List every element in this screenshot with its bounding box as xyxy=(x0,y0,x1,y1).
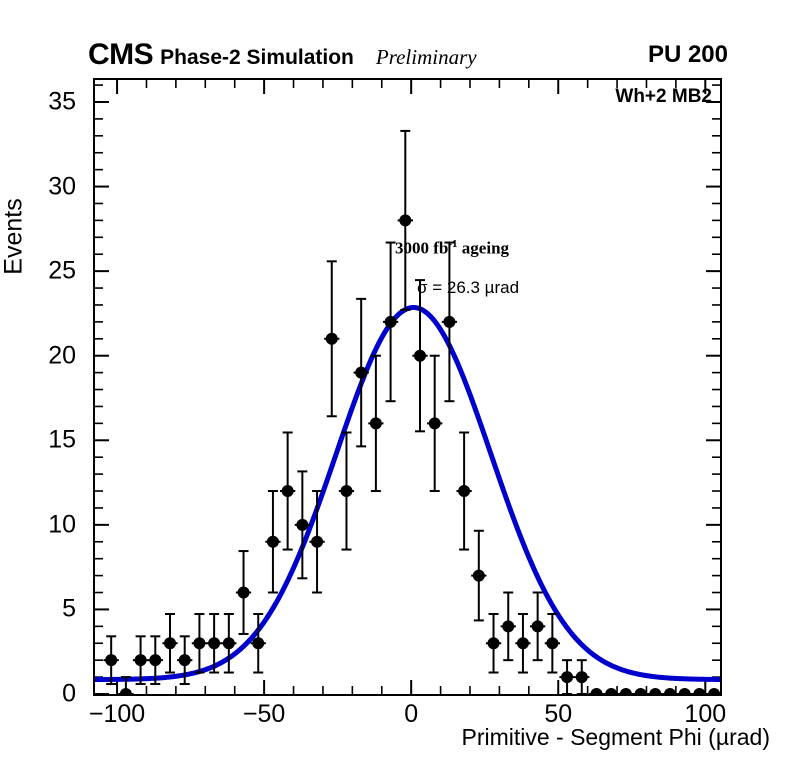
plot-frame: Wh+2 MB2 3000 fb-1 ageing σ = 26.3 µrad xyxy=(93,78,722,696)
data-point-marker xyxy=(605,688,617,694)
data-point-marker xyxy=(429,417,441,429)
data-point-marker xyxy=(193,637,205,649)
data-point-marker xyxy=(414,350,426,362)
data-point-marker xyxy=(120,688,132,694)
data-point-marker xyxy=(105,654,117,666)
data-point-marker xyxy=(223,637,235,649)
data-point-marker xyxy=(385,316,397,328)
y-tick-label: 5 xyxy=(62,595,76,624)
x-axis-title: Primitive - Segment Phi (µrad) xyxy=(110,724,782,751)
data-point-marker xyxy=(679,688,691,694)
data-point-marker xyxy=(708,688,720,694)
data-point-marker xyxy=(208,637,220,649)
data-point-marker xyxy=(399,214,411,226)
data-point-marker xyxy=(649,688,661,694)
data-point-marker xyxy=(443,316,455,328)
data-point-marker xyxy=(458,485,470,497)
cms-logo-text: CMS xyxy=(88,38,153,72)
data-point-marker xyxy=(664,688,676,694)
data-point-marker xyxy=(532,620,544,632)
plot-canvas: CMS Phase-2 Simulation Preliminary PU 20… xyxy=(0,0,796,772)
ageing-annotation: 3000 fb-1 ageing xyxy=(395,238,509,259)
y-tick-label: 35 xyxy=(48,87,76,116)
cms-status-label: Preliminary xyxy=(376,40,477,74)
data-point-marker xyxy=(488,637,500,649)
y-tick-label: 20 xyxy=(48,341,76,370)
ageing-pre: 3000 fb xyxy=(395,239,448,258)
data-point-marker xyxy=(179,654,191,666)
data-point-marker xyxy=(693,688,705,694)
gaussian-fit-curve xyxy=(95,308,720,680)
sigma-annotation: σ = 26.3 µrad xyxy=(417,278,519,298)
y-tick-label: 15 xyxy=(48,426,76,455)
data-point-marker xyxy=(590,688,602,694)
data-point-marker xyxy=(282,485,294,497)
data-point-marker xyxy=(296,519,308,531)
data-point-marker xyxy=(546,637,558,649)
data-points-group xyxy=(105,214,720,694)
cms-subtitle: Phase-2 Simulation xyxy=(160,41,354,75)
plot-area xyxy=(95,80,720,694)
error-bars-group xyxy=(104,131,720,694)
data-point-marker xyxy=(164,637,176,649)
data-point-marker xyxy=(252,637,264,649)
data-point-marker xyxy=(576,671,588,683)
plot-svg xyxy=(95,80,720,694)
pileup-label: PU 200 xyxy=(648,38,728,72)
cms-header: CMS Phase-2 Simulation Preliminary PU 20… xyxy=(88,38,728,72)
ageing-post: ageing xyxy=(458,239,509,258)
data-point-marker xyxy=(517,637,529,649)
ageing-exponent: -1 xyxy=(448,238,457,250)
data-point-marker xyxy=(620,688,632,694)
y-tick-label: 30 xyxy=(48,172,76,201)
y-tick-label: 25 xyxy=(48,257,76,286)
tick-marks-group xyxy=(95,80,720,694)
data-point-marker xyxy=(238,587,250,599)
cms-header-row: CMS Phase-2 Simulation Preliminary xyxy=(88,38,728,75)
y-tick-label: 10 xyxy=(48,510,76,539)
data-point-marker xyxy=(355,367,367,379)
data-point-marker xyxy=(502,620,514,632)
chamber-label: Wh+2 MB2 xyxy=(615,86,712,108)
data-point-marker xyxy=(135,654,147,666)
data-point-marker xyxy=(473,570,485,582)
data-point-marker xyxy=(561,671,573,683)
data-point-marker xyxy=(326,333,338,345)
data-point-marker xyxy=(311,536,323,548)
data-point-marker xyxy=(370,417,382,429)
data-point-marker xyxy=(340,485,352,497)
data-point-marker xyxy=(267,536,279,548)
data-point-marker xyxy=(149,654,161,666)
y-tick-label-group: 05101520253035 xyxy=(0,78,86,696)
data-point-marker xyxy=(635,688,647,694)
